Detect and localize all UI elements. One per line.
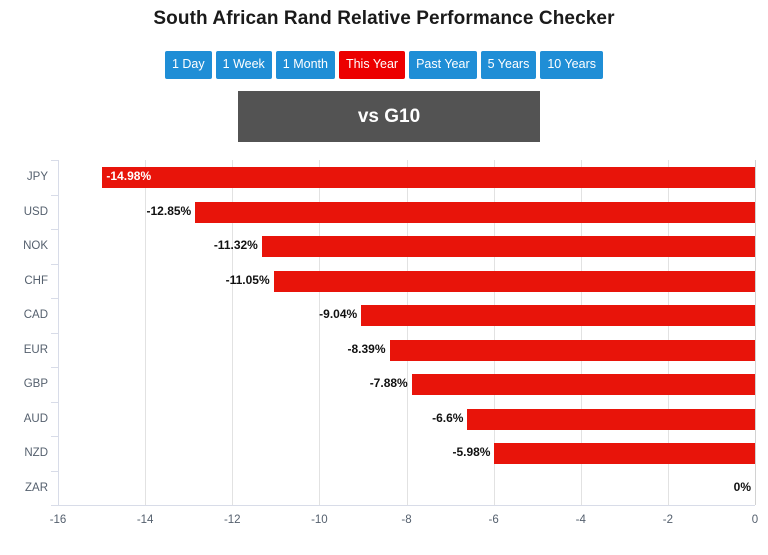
bar-chf[interactable] xyxy=(274,271,755,292)
period-tab-5-years[interactable]: 5 Years xyxy=(481,51,537,79)
y-tick-mark xyxy=(51,229,58,230)
chart-row: AUD-6.6% xyxy=(58,402,755,437)
performance-bar-chart: -16-14-12-10-8-6-4-20JPY-14.98%USD-12.85… xyxy=(0,160,768,555)
y-axis-label-gbp: GBP xyxy=(24,378,48,390)
chart-row: CAD-9.04% xyxy=(58,298,755,333)
bar-cad[interactable] xyxy=(361,305,755,326)
y-tick-mark xyxy=(51,298,58,299)
period-tab-group: 1 Day1 Week1 MonthThis YearPast Year5 Ye… xyxy=(0,51,768,79)
chart-row: NOK-11.32% xyxy=(58,229,755,264)
chart-row: GBP-7.88% xyxy=(58,367,755,402)
bar-eur[interactable] xyxy=(390,340,755,361)
bar-nzd[interactable] xyxy=(494,443,755,464)
period-tab-1-month[interactable]: 1 Month xyxy=(276,51,335,79)
y-tick-mark xyxy=(51,402,58,403)
bar-value-label-eur: -8.39% xyxy=(347,342,389,356)
y-axis-label-usd: USD xyxy=(24,206,48,218)
chart-row: JPY-14.98% xyxy=(58,160,755,195)
period-tab-this-year[interactable]: This Year xyxy=(339,51,405,79)
y-axis-label-chf: CHF xyxy=(24,275,48,287)
x-tick-label: -2 xyxy=(663,514,673,526)
page-title: South African Rand Relative Performance … xyxy=(0,8,768,30)
y-axis-label-cad: CAD xyxy=(24,309,48,321)
vs-g10-banner: vs G10 xyxy=(238,91,540,142)
chart-row: NZD-5.98% xyxy=(58,436,755,471)
period-tab-10-years[interactable]: 10 Years xyxy=(540,51,603,79)
bar-value-label-jpy: -14.98% xyxy=(102,169,151,183)
bar-value-label-usd: -12.85% xyxy=(147,204,196,218)
bar-value-label-nok: -11.32% xyxy=(214,238,262,252)
y-axis-label-zar: ZAR xyxy=(25,482,48,494)
bar-nok[interactable] xyxy=(262,236,755,257)
bar-gbp[interactable] xyxy=(412,374,755,395)
x-tick-label: -6 xyxy=(489,514,499,526)
y-axis-label-eur: EUR xyxy=(24,344,48,356)
x-tick-label: -12 xyxy=(224,514,241,526)
plot-area: -16-14-12-10-8-6-4-20JPY-14.98%USD-12.85… xyxy=(58,160,755,505)
x-tick-label: -16 xyxy=(50,514,67,526)
y-tick-mark xyxy=(51,505,58,506)
chart-row: CHF-11.05% xyxy=(58,264,755,299)
chart-row: EUR-8.39% xyxy=(58,333,755,368)
x-gridline xyxy=(755,160,756,505)
x-tick-label: -8 xyxy=(401,514,411,526)
chart-row: USD-12.85% xyxy=(58,195,755,230)
x-tick-label: -14 xyxy=(137,514,154,526)
bar-value-label-chf: -11.05% xyxy=(226,273,274,287)
period-tab-1-day[interactable]: 1 Day xyxy=(165,51,212,79)
x-tick-label: -10 xyxy=(311,514,328,526)
y-tick-mark xyxy=(51,264,58,265)
period-tab-1-week[interactable]: 1 Week xyxy=(216,51,272,79)
vs-g10-banner-label: vs G10 xyxy=(358,106,420,128)
bar-value-label-zar: 0% xyxy=(734,480,755,494)
x-axis-spine xyxy=(58,505,755,506)
y-tick-mark xyxy=(51,367,58,368)
y-tick-mark xyxy=(51,436,58,437)
bar-value-label-cad: -9.04% xyxy=(319,307,361,321)
bar-aud[interactable] xyxy=(467,409,755,430)
y-axis-label-jpy: JPY xyxy=(27,171,48,183)
bar-value-label-gbp: -7.88% xyxy=(370,376,412,390)
x-tick-label: -4 xyxy=(576,514,586,526)
y-tick-mark xyxy=(51,195,58,196)
bar-usd[interactable] xyxy=(195,202,755,223)
chart-row: ZAR0% xyxy=(58,471,755,506)
y-tick-mark xyxy=(51,333,58,334)
y-axis-label-nok: NOK xyxy=(23,240,48,252)
y-tick-mark xyxy=(51,160,58,161)
x-tick-label: 0 xyxy=(752,514,758,526)
period-tab-past-year[interactable]: Past Year xyxy=(409,51,477,79)
bar-value-label-aud: -6.6% xyxy=(432,411,467,425)
bar-jpy[interactable] xyxy=(102,167,755,188)
y-axis-label-nzd: NZD xyxy=(24,447,48,459)
bar-value-label-nzd: -5.98% xyxy=(452,445,494,459)
y-axis-label-aud: AUD xyxy=(24,413,48,425)
y-tick-mark xyxy=(51,471,58,472)
